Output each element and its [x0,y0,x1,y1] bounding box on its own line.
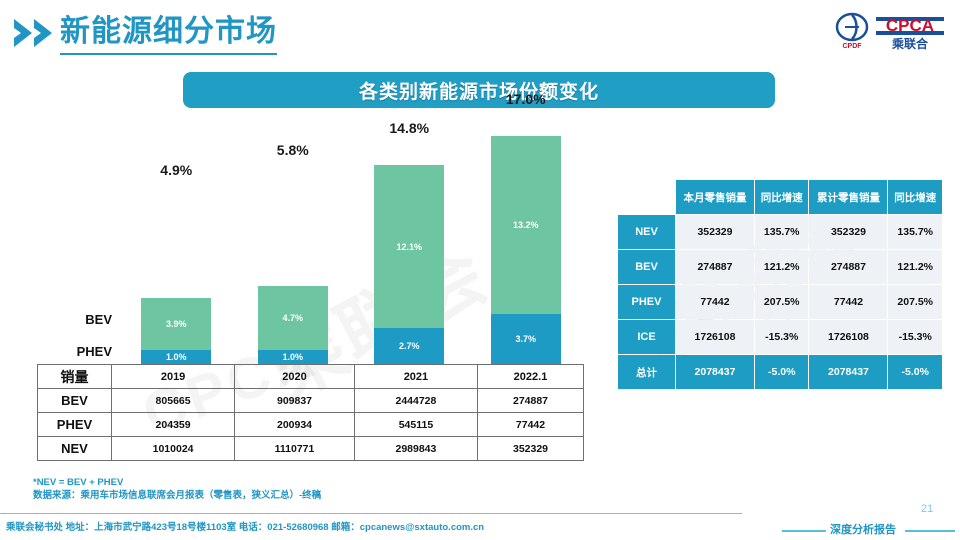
retail-col-yoy-1: 同比增速 [755,180,809,214]
svg-text:CPDF: CPDF [842,43,862,50]
bar-segment-bev: 3.9% [141,298,211,350]
bar-column-2022-1: 17.0% 13.2% 3.7% [468,112,585,364]
sales-cell: 2444728 [354,389,477,413]
retail-col-yoy-2: 同比增速 [888,180,942,214]
retail-table-corner [618,180,675,214]
sales-table: 销量 2019 2020 2021 2022.1 BEV 805665 9098… [37,364,584,461]
sales-cell: 352329 [478,437,584,461]
retail-cell: 207.5% [755,285,809,319]
stacked-bar-chart: BEV PHEV 4.9% 3.9% 1.0% 5.8% 4.7% 1.0% 1… [32,112,584,364]
page-title: 新能源细分市场 [60,12,277,55]
table-row: ICE 1726108 -15.3% 1726108 -15.3% [618,320,942,354]
footer-divider [0,513,742,514]
retail-cell: 274887 [809,250,887,284]
footer-brand-rule-right [905,530,955,532]
bar-segment-phev: 3.7% [491,314,561,364]
table-row: NEV 1010024 1110771 2989843 352329 [38,437,584,461]
axis-label-bev: BEV [32,312,112,327]
bar-segment-phev: 1.0% [141,350,211,364]
svg-text:乘联合: 乘联合 [891,36,929,51]
bar-total-label: 14.8% [389,120,429,136]
retail-cell: 135.7% [888,215,942,249]
table-row: NEV 352329 135.7% 352329 135.7% [618,215,942,249]
retail-row-label: PHEV [618,285,675,319]
table-row-total: 总计 2078437 -5.0% 2078437 -5.0% [618,355,942,389]
retail-total-cell: -5.0% [755,355,809,389]
retail-cell: -15.3% [888,320,942,354]
retail-row-label: ICE [618,320,675,354]
bar-total-label: 5.8% [277,142,309,158]
retail-cell: 121.2% [888,250,942,284]
retail-cell: 121.2% [755,250,809,284]
sales-col-2021: 2021 [354,365,477,389]
retail-col-cumulative-retail: 累计零售销量 [809,180,887,214]
sales-cell: 909837 [235,389,355,413]
retail-total-cell: -5.0% [888,355,942,389]
retail-cell: 77442 [809,285,887,319]
retail-cell: 207.5% [888,285,942,319]
footer-brand: 深度分析报告 [830,521,896,537]
sales-cell: 1010024 [112,437,235,461]
retail-col-month-retail: 本月零售销量 [676,180,754,214]
retail-row-label: BEV [618,250,675,284]
cpca-logo: CPDF CPCA 乘联合 [832,8,948,52]
bar-segment-bev: 4.7% [258,286,328,350]
sales-cell: 204359 [112,413,235,437]
chart-title-banner: 各类别新能源市场份额变化 [183,72,775,108]
retail-cell: 352329 [809,215,887,249]
retail-total-label: 总计 [618,355,675,389]
retail-cell: 135.7% [755,215,809,249]
bar-segment-phev: 2.7% [374,328,444,364]
table-row: PHEV 77442 207.5% 77442 207.5% [618,285,942,319]
bar-column-2020: 5.8% 4.7% 1.0% [235,112,352,364]
retail-cell: 1726108 [676,320,754,354]
sales-row-label: NEV [38,437,112,461]
sales-row-label: PHEV [38,413,112,437]
sales-col-2022-1: 2022.1 [478,365,584,389]
retail-cell: 352329 [676,215,754,249]
retail-total-cell: 2078437 [676,355,754,389]
retail-cell: -15.3% [755,320,809,354]
table-row: BEV 274887 121.2% 274887 121.2% [618,250,942,284]
sales-cell: 200934 [235,413,355,437]
sales-cell: 77442 [478,413,584,437]
footnote-source: 数据来源：乘用车市场信息联席会月报表（零售表，狭义汇总）-终稿 [33,489,321,502]
bar-segment-phev: 1.0% [258,350,328,364]
retail-row-label: NEV [618,215,675,249]
sales-cell: 545115 [354,413,477,437]
retail-table: 本月零售销量 同比增速 累计零售销量 同比增速 NEV 352329 135.7… [617,179,943,390]
retail-cell: 77442 [676,285,754,319]
page-number: 21 [921,503,933,515]
chart-plot-area: 4.9% 3.9% 1.0% 5.8% 4.7% 1.0% 14.8% 12.1… [118,112,584,364]
table-row-header: 本月零售销量 同比增速 累计零售销量 同比增速 [618,180,942,214]
footnote-definition: *NEV = BEV + PHEV [33,476,321,489]
retail-cell: 1726108 [809,320,887,354]
footer-brand-rule-left [782,530,826,532]
sales-row-label: BEV [38,389,112,413]
retail-total-cell: 2078437 [809,355,887,389]
bar-segment-bev: 13.2% [491,136,561,314]
footnotes: *NEV = BEV + PHEV 数据来源：乘用车市场信息联席会月报表（零售表… [33,476,321,502]
sales-cell: 1110771 [235,437,355,461]
footer-contact: 乘联会秘书处 地址：上海市武宁路423号18号楼1103室 电话：021-526… [6,519,484,533]
sales-cell: 274887 [478,389,584,413]
bar-total-label: 4.9% [160,162,192,178]
table-row: PHEV 204359 200934 545115 77442 [38,413,584,437]
slide-root: 乘联会 乘联会 CPCA CPCA 新能源细分市场 CPDF CPCA 乘联合 … [0,0,960,540]
retail-cell: 274887 [676,250,754,284]
axis-label-phev: PHEV [32,344,112,359]
sales-cell: 805665 [112,389,235,413]
bar-column-2021: 14.8% 12.1% 2.7% [351,112,468,364]
bar-segment-bev: 12.1% [374,165,444,328]
bar-column-2019: 4.9% 3.9% 1.0% [118,112,235,364]
bar-total-label: 17.0% [506,91,546,107]
table-row-header: 销量 2019 2020 2021 2022.1 [38,365,584,389]
svg-text:CPCA: CPCA [886,16,934,35]
sales-col-2019: 2019 [112,365,235,389]
sales-table-corner: 销量 [38,365,112,389]
sales-col-2020: 2020 [235,365,355,389]
sales-cell: 2989843 [354,437,477,461]
table-row: BEV 805665 909837 2444728 274887 [38,389,584,413]
